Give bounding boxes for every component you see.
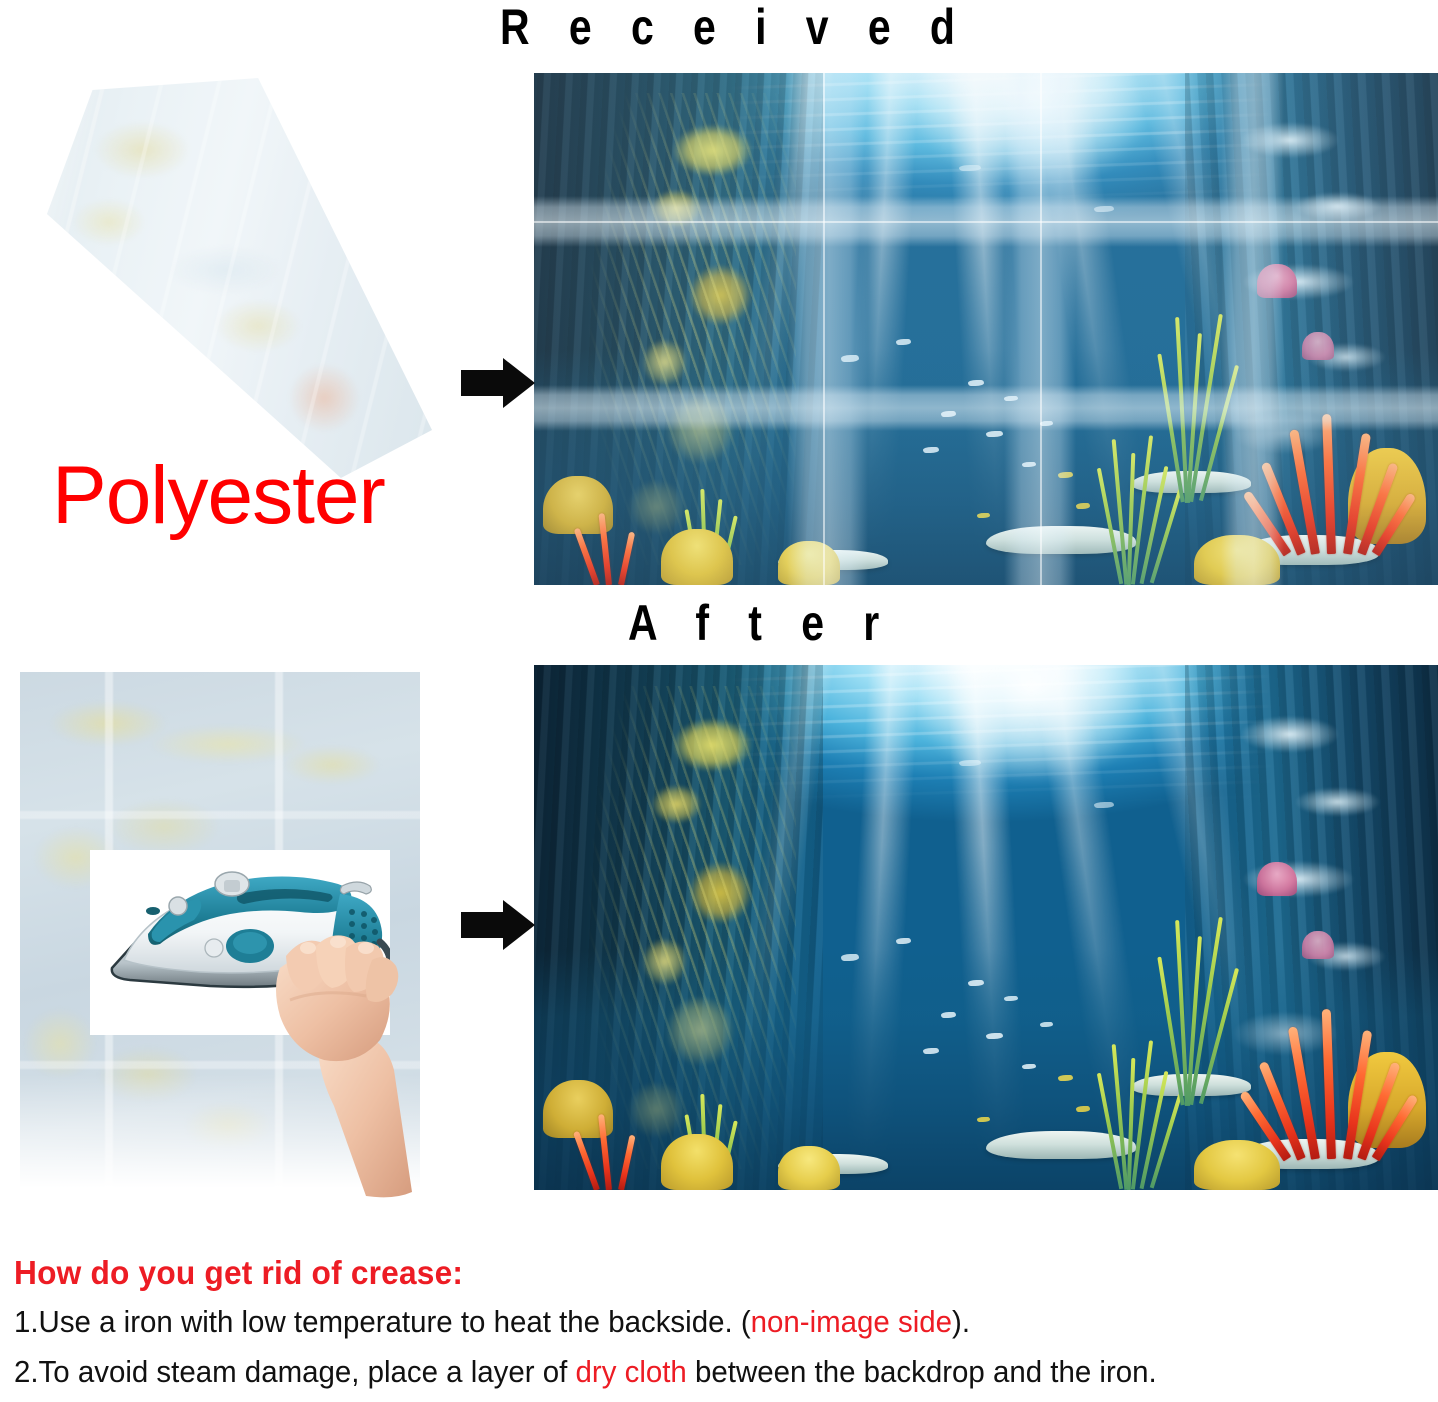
hand-icon [262,930,432,1200]
yellow-coral [1194,1140,1280,1190]
fish [1094,802,1114,808]
step-1-prefix: 1.Use a iron with low temperature to hea… [14,1304,751,1339]
coral-reef-scene-creased [534,73,1438,585]
step-1-suffix: ). [952,1304,970,1339]
coral-reef-scene-smooth [534,665,1438,1190]
instructions-heading: How do you get rid of crease: [14,1255,1368,1292]
fish [968,980,984,986]
instruction-step-2: 2.To avoid steam damage, place a layer o… [14,1352,1354,1392]
folded-polyester-sheet-image [18,78,432,478]
step-1-highlight: non-image side [751,1304,952,1339]
pink-coral [1302,931,1334,959]
after-backdrop-image [534,665,1438,1190]
fish [1004,996,1018,1001]
sea-grass [1167,916,1237,1106]
arrow-shaft [461,912,507,938]
arrow-right-icon [461,358,537,408]
after-section-title: A f t e r [628,598,893,648]
step-2-suffix: between the backdrop and the iron. [687,1354,1157,1389]
fish [986,1033,1003,1039]
polyester-material-label: Polyester [52,455,385,537]
arrow-head [503,358,535,408]
yellow-coral [661,1134,733,1190]
fish [896,938,911,944]
yellow-coral [778,1146,840,1190]
fish [959,760,981,766]
fish-yellow [977,1117,990,1122]
arrow-head [503,900,535,950]
sheet-highlight-edge [18,78,432,478]
fish-yellow [1058,1075,1073,1081]
hand-holding-iron [262,930,432,1200]
step-2-prefix: 2.To avoid steam damage, place a layer o… [14,1354,576,1389]
received-backdrop-image [534,73,1438,585]
fish [841,954,859,961]
step-2-highlight: dry cloth [576,1354,687,1389]
fish [941,1012,956,1018]
crease-haze [534,73,1438,585]
red-branching-coral [1275,1009,1395,1159]
arrow-shaft [461,370,507,396]
arrow-right-icon [461,900,537,950]
red-branching-coral [588,1114,636,1190]
crease-removal-instructions: How do you get rid of crease: 1.Use a ir… [14,1255,1424,1393]
instruction-step-1: 1.Use a iron with low temperature to hea… [14,1302,1354,1342]
pink-coral [1257,862,1297,896]
received-section-title: R e c e i v e d [500,2,969,52]
